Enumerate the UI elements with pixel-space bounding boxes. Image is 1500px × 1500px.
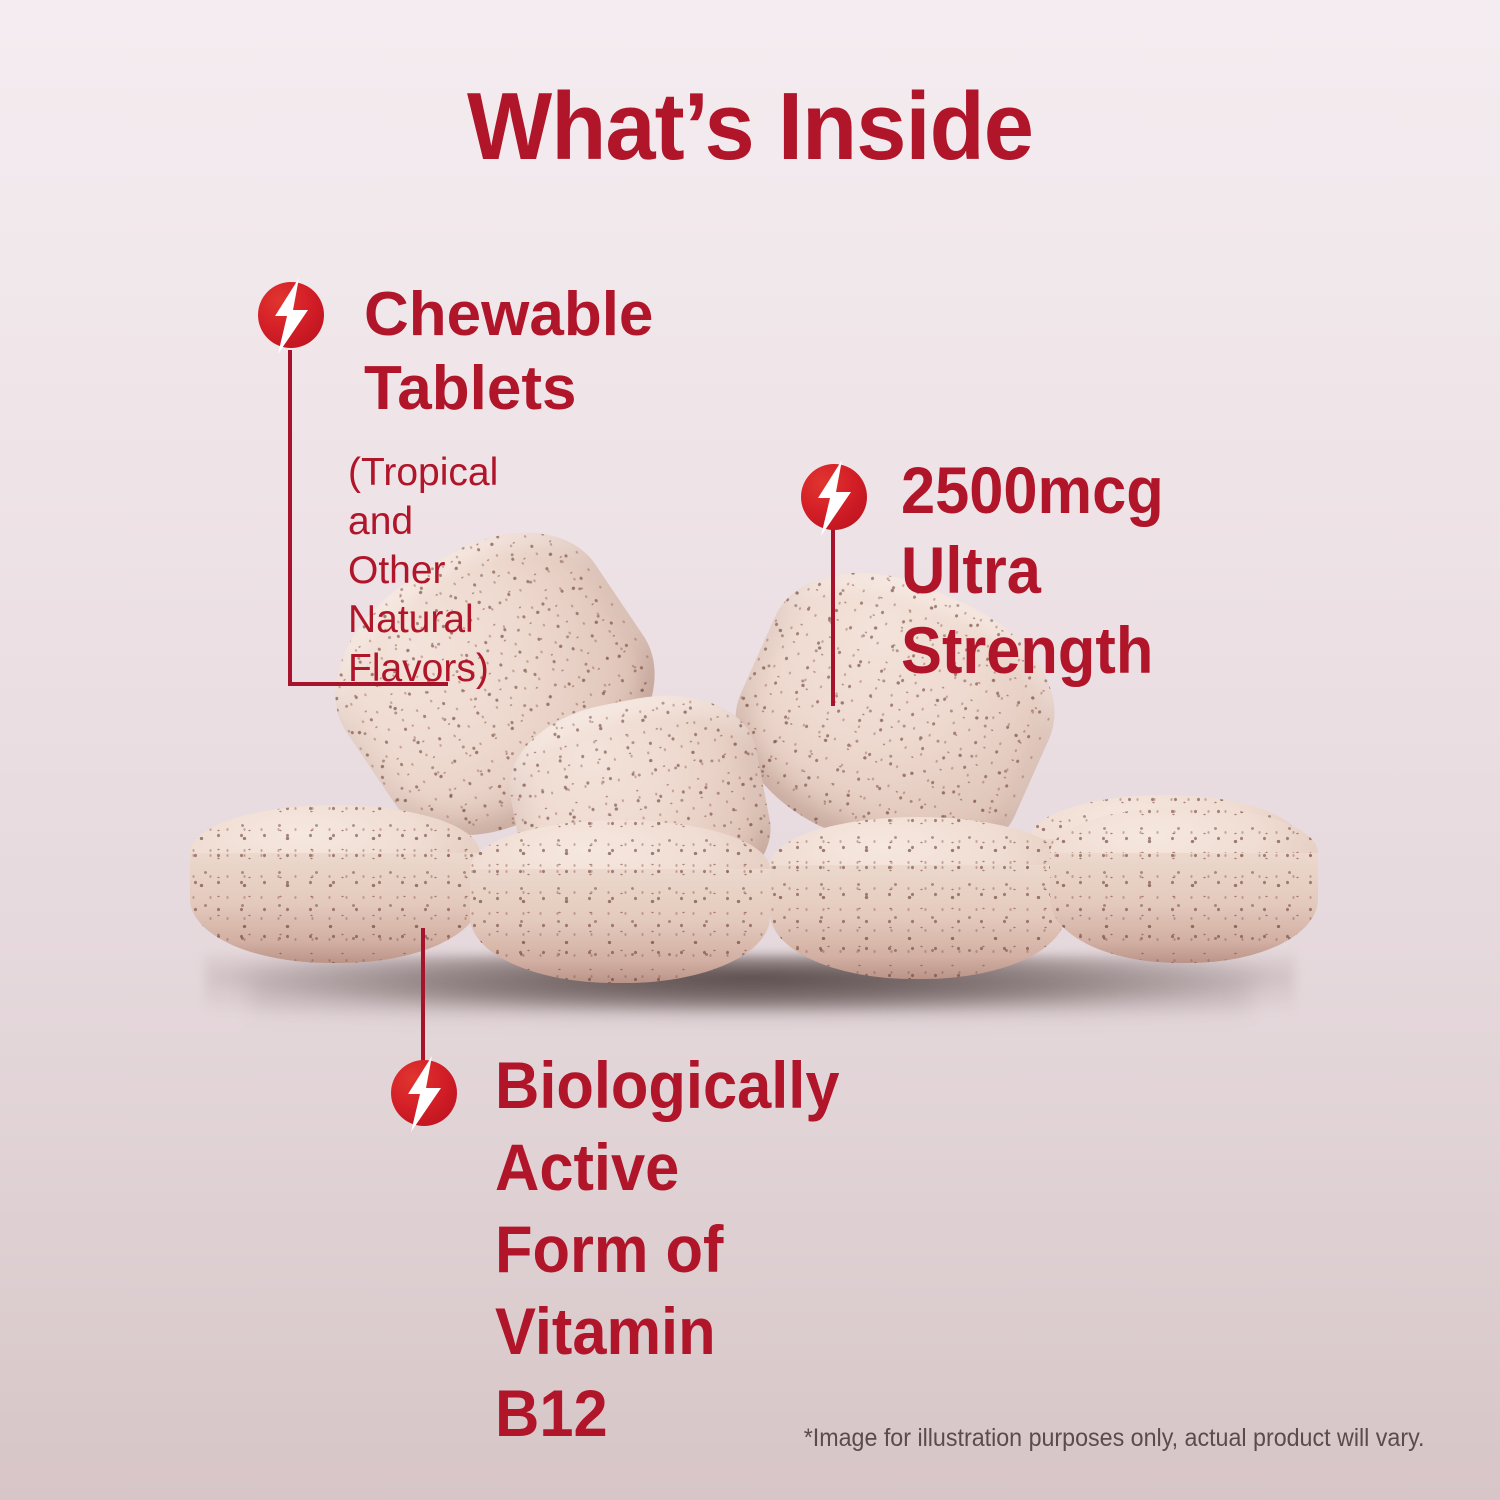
bolt-glyph bbox=[801, 458, 867, 538]
bolt-glyph bbox=[391, 1054, 457, 1134]
infographic-canvas: What’s Inside bbox=[0, 0, 1500, 1500]
tablet-bottom-3 bbox=[770, 817, 1066, 1007]
tablet-bottom-4 bbox=[1050, 807, 1318, 993]
callout-heading: 2500mcg Ultra Strength bbox=[901, 450, 1164, 690]
tablet-side bbox=[770, 865, 1066, 979]
bolt-glyph bbox=[258, 276, 324, 356]
disclaimer-text: *Image for illustration purposes only, a… bbox=[803, 1424, 1424, 1453]
leader-line-chewable-vertical bbox=[288, 350, 292, 686]
lightning-bolt-icon bbox=[258, 282, 324, 348]
callout-heading: Chewable Tablets bbox=[364, 278, 653, 426]
lightning-bolt-icon bbox=[391, 1060, 457, 1126]
tablet-side bbox=[190, 853, 480, 963]
leader-line-ultra-strength bbox=[831, 528, 835, 706]
page-title: What’s Inside bbox=[45, 72, 1455, 182]
tablet-bottom-1 bbox=[190, 805, 480, 995]
callout-heading: Biologically Active Form of Vitamin B12 bbox=[495, 1044, 839, 1454]
lightning-bolt-icon bbox=[801, 464, 867, 530]
tablet-bottom-2 bbox=[470, 820, 770, 1010]
tablet-side bbox=[470, 869, 770, 983]
callout-subtext: (Tropical and Other Natural Flavors) bbox=[348, 448, 498, 693]
tablet-side bbox=[1050, 853, 1318, 963]
